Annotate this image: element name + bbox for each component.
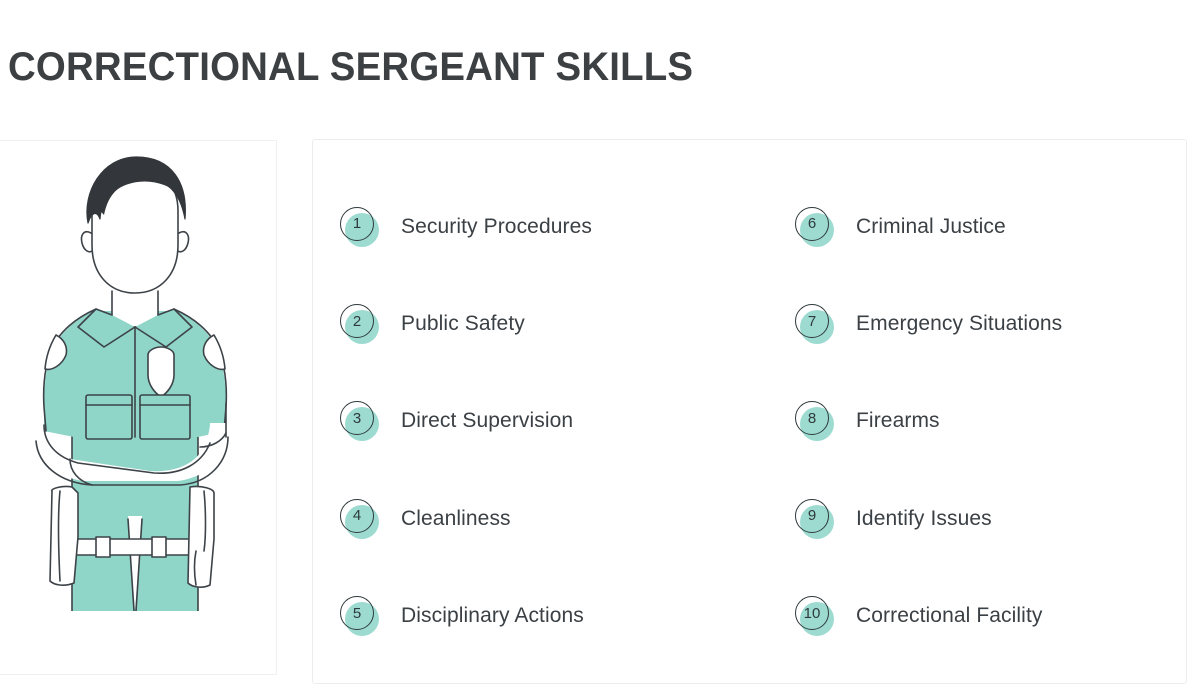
list-item[interactable]: 10 Correctional Facility	[794, 568, 1200, 665]
badge-number: 9	[795, 499, 829, 533]
badge-number: 6	[795, 207, 829, 241]
skill-number-badge: 1	[339, 206, 381, 248]
list-item[interactable]: 9 Identify Issues	[794, 470, 1200, 567]
skill-label: Public Safety	[401, 312, 525, 336]
list-item[interactable]: 5 Disciplinary Actions	[339, 568, 794, 665]
skill-number-badge: 5	[339, 595, 381, 637]
officer-illustration-graphic	[0, 141, 277, 611]
badge-number: 2	[340, 304, 374, 338]
badge-number: 1	[340, 207, 374, 241]
skill-label: Direct Supervision	[401, 409, 573, 433]
skill-label: Security Procedures	[401, 215, 592, 239]
skills-panel: 1 Security Procedures 2 Public Safety 3	[312, 139, 1187, 684]
infographic-page: CORRECTIONAL SERGEANT SKILLS	[0, 0, 1200, 675]
list-item[interactable]: 3 Direct Supervision	[339, 373, 794, 470]
skill-label: Disciplinary Actions	[401, 604, 584, 628]
skill-label: Emergency Situations	[856, 312, 1062, 336]
badge-number: 8	[795, 401, 829, 435]
officer-illustration-card: ZIPPIA THE CAREER EXPERT	[0, 140, 277, 675]
badge-number: 5	[340, 596, 374, 630]
skill-label: Criminal Justice	[856, 215, 1006, 239]
badge-number: 3	[340, 401, 374, 435]
skill-number-badge: 3	[339, 400, 381, 442]
skill-label: Firearms	[856, 409, 940, 433]
skill-label: Identify Issues	[856, 507, 992, 531]
officer-illustration	[0, 141, 277, 611]
list-item[interactable]: 7 Emergency Situations	[794, 275, 1200, 372]
list-item[interactable]: 6 Criminal Justice	[794, 178, 1200, 275]
skills-list: 1 Security Procedures 2 Public Safety 3	[313, 140, 1186, 683]
skill-number-badge: 6	[794, 206, 836, 248]
badge-number: 7	[795, 304, 829, 338]
list-item[interactable]: 1 Security Procedures	[339, 178, 794, 275]
skill-number-badge: 10	[794, 595, 836, 637]
skill-label: Cleanliness	[401, 507, 511, 531]
skill-number-badge: 8	[794, 400, 836, 442]
skill-number-badge: 2	[339, 303, 381, 345]
list-item[interactable]: 2 Public Safety	[339, 275, 794, 372]
skill-number-badge: 9	[794, 498, 836, 540]
badge-number: 4	[340, 499, 374, 533]
skill-number-badge: 7	[794, 303, 836, 345]
list-item[interactable]: 4 Cleanliness	[339, 470, 794, 567]
page-title: CORRECTIONAL SERGEANT SKILLS	[8, 41, 693, 93]
skill-number-badge: 4	[339, 498, 381, 540]
skill-label: Correctional Facility	[856, 604, 1043, 628]
badge-number: 10	[795, 596, 829, 630]
list-item[interactable]: 8 Firearms	[794, 373, 1200, 470]
